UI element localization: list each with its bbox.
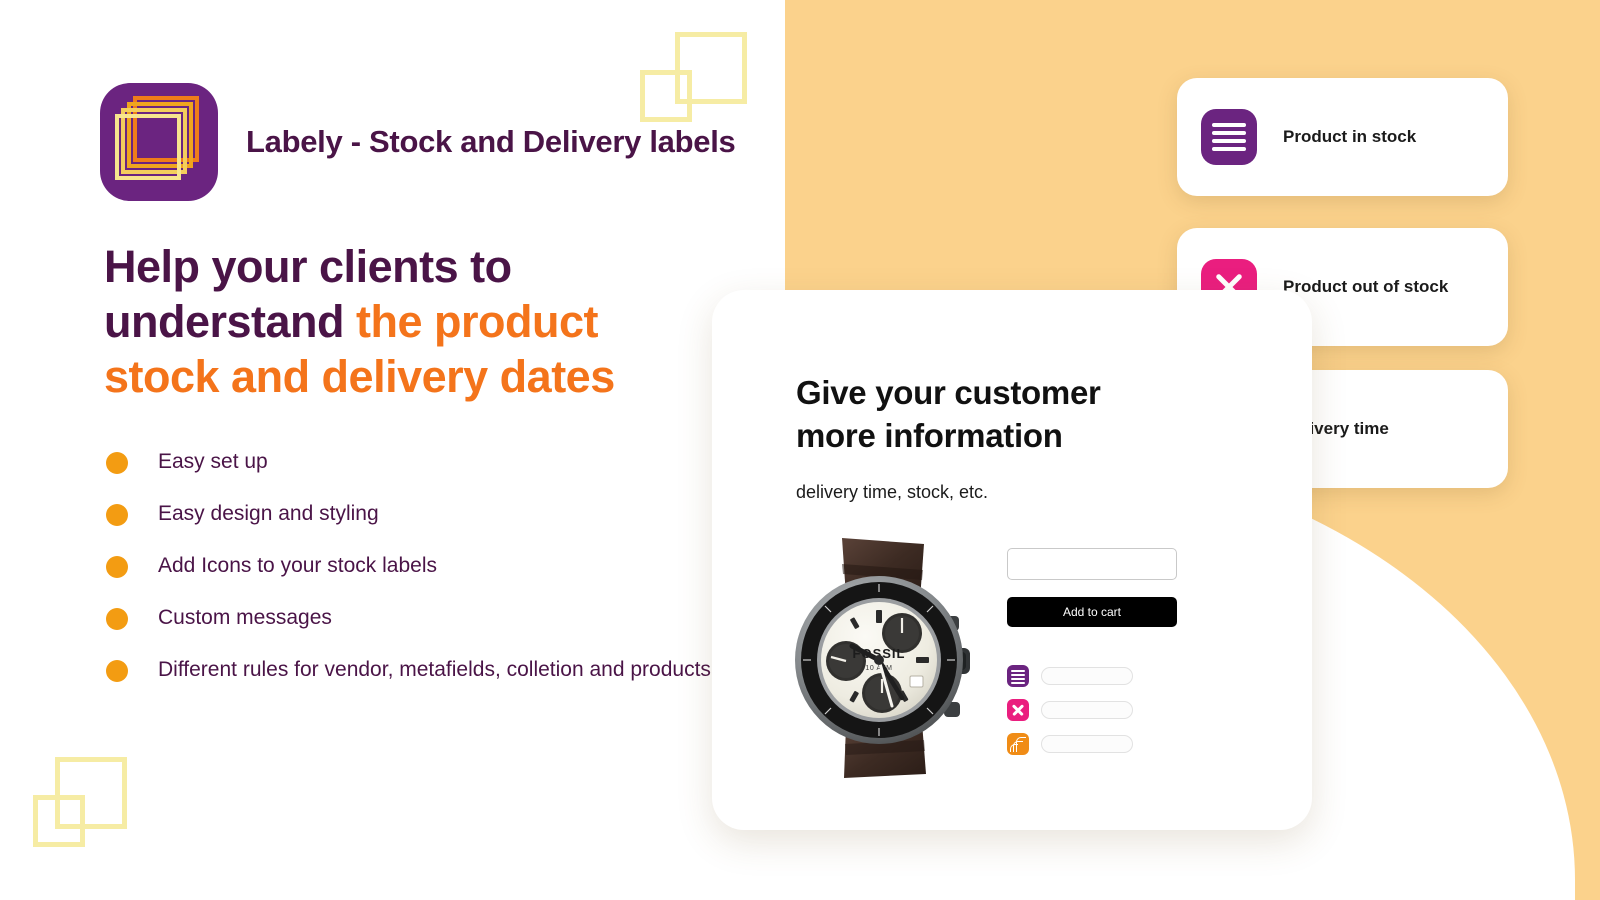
- bullet-dot-icon: [106, 660, 128, 682]
- bullet-dot-icon: [106, 556, 128, 578]
- label-placeholder-pill: [1041, 701, 1133, 719]
- app-title: Labely - Stock and Delivery labels: [246, 124, 735, 160]
- headline-line-3-accent: stock and delivery dates: [104, 351, 615, 402]
- stock-label-preview-rows: [1007, 665, 1294, 755]
- label-placeholder-pill: [1041, 667, 1133, 685]
- mockup-subtitle: delivery time, stock, etc.: [796, 482, 1312, 503]
- list-item: Easy design and styling: [106, 500, 726, 529]
- delivery-swoosh-icon: [1007, 733, 1029, 755]
- bullet-label: Add Icons to your stock labels: [158, 552, 437, 581]
- mockup-title-line-2: more information: [796, 417, 1063, 454]
- label-placeholder-pill: [1041, 735, 1133, 753]
- shop-controls-column: Add to cart: [1007, 530, 1294, 780]
- bullet-dot-icon: [106, 608, 128, 630]
- label-row-in-stock: [1007, 665, 1294, 687]
- headline-line-2-dark: understand: [104, 296, 356, 347]
- feature-card-label: Product out of stock: [1283, 277, 1448, 297]
- bullet-label: Easy set up: [158, 448, 268, 477]
- promo-banner: Labely - Stock and Delivery labels Help …: [0, 0, 1600, 900]
- bullet-dot-icon: [106, 452, 128, 474]
- bullet-label: Easy design and styling: [158, 500, 379, 529]
- bullet-label: Different rules for vendor, metafields, …: [158, 656, 711, 685]
- stacked-layers-icon: [1201, 109, 1257, 165]
- product-mockup-card: Give your customer more information deli…: [712, 290, 1312, 830]
- headline-line-1: Help your clients to: [104, 241, 512, 292]
- list-item: Different rules for vendor, metafields, …: [106, 656, 726, 685]
- cross-x-icon: [1007, 699, 1029, 721]
- logo-ring-pale: [115, 114, 181, 180]
- mockup-title-line-1: Give your customer: [796, 374, 1101, 411]
- feature-bullet-list: Easy set up Easy design and styling Add …: [106, 448, 726, 708]
- quantity-input[interactable]: [1007, 548, 1177, 580]
- bullet-label: Custom messages: [158, 604, 332, 633]
- nested-squares-logo-icon: [100, 83, 218, 201]
- feature-card-product-in-stock[interactable]: Product in stock: [1177, 78, 1508, 196]
- product-image-fossil-watch: FOSSIL 10 ATM: [774, 530, 989, 780]
- label-row-out-of-stock: [1007, 699, 1294, 721]
- add-to-cart-button[interactable]: Add to cart: [1007, 597, 1177, 627]
- label-row-delivery-time: [1007, 733, 1294, 755]
- feature-card-label: Product in stock: [1283, 127, 1416, 147]
- mockup-title: Give your customer more information: [796, 372, 1156, 458]
- list-item: Add Icons to your stock labels: [106, 552, 726, 581]
- decorative-squares-bottom: [33, 757, 143, 857]
- stacked-layers-icon: [1007, 665, 1029, 687]
- mockup-product-area: FOSSIL 10 ATM Add to cart: [774, 530, 1294, 780]
- decorative-square-small: [33, 795, 85, 847]
- list-item: Custom messages: [106, 604, 726, 633]
- brand-header: Labely - Stock and Delivery labels: [100, 83, 735, 201]
- svg-text:10 ATM: 10 ATM: [865, 665, 892, 672]
- bullet-dot-icon: [106, 504, 128, 526]
- list-item: Easy set up: [106, 448, 726, 477]
- page-headline: Help your clients to understand the prod…: [104, 240, 724, 405]
- headline-line-2-accent: the product: [356, 296, 598, 347]
